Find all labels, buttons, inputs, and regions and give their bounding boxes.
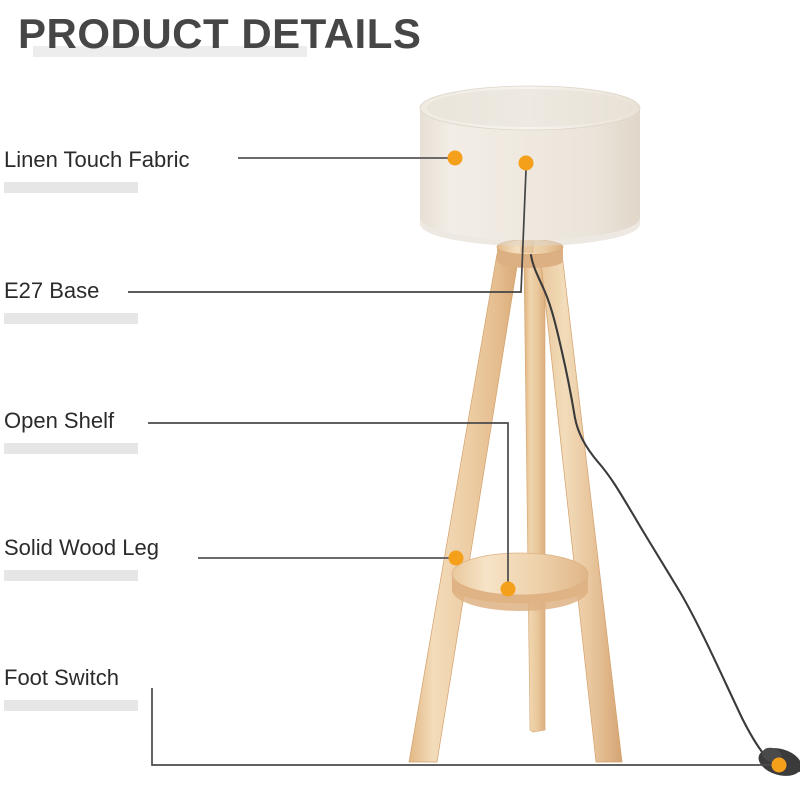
callout-dot-linen-touch-fabric[interactable]: [448, 151, 463, 166]
callout-dot-solid-wood-leg[interactable]: [449, 551, 464, 566]
callout-dot-open-shelf[interactable]: [501, 582, 516, 597]
callout-leader-lines: [0, 0, 800, 800]
product-details-infographic: PRODUCT DETAILS: [0, 0, 800, 800]
callout-dot-e27-base[interactable]: [519, 156, 534, 171]
leader-line-foot-switch: [152, 688, 772, 765]
callout-dot-foot-switch[interactable]: [772, 758, 787, 773]
leader-line-e27-base: [128, 170, 526, 292]
